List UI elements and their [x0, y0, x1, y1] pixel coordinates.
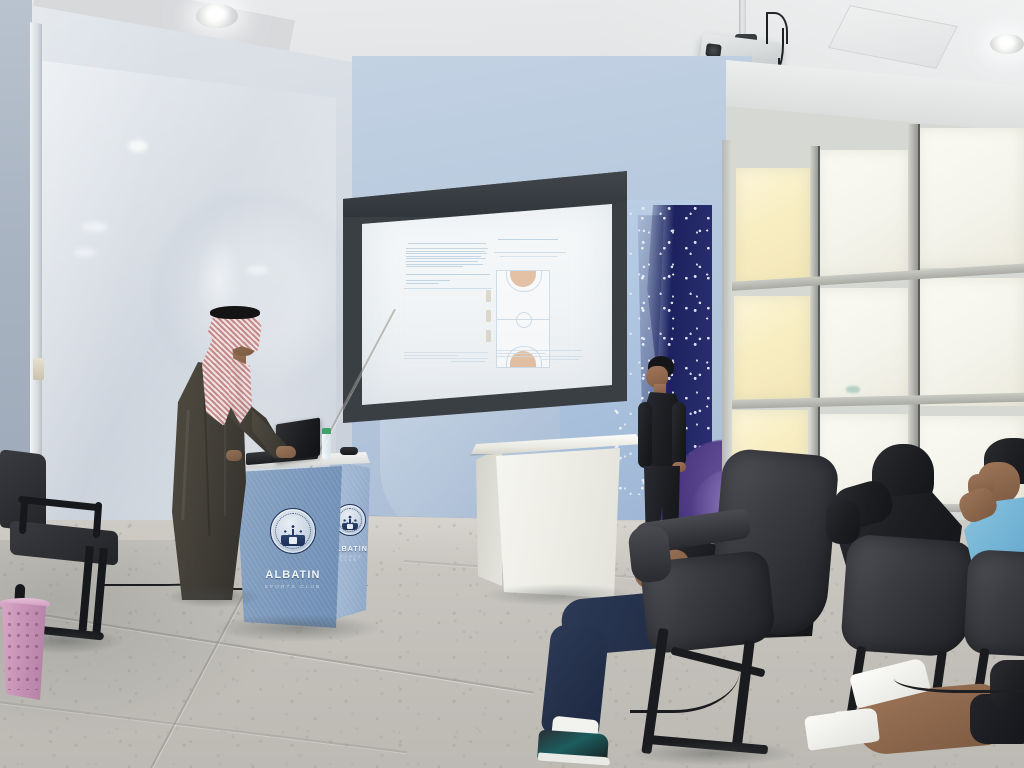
chair-backrest [840, 534, 976, 659]
window-pane [918, 128, 1024, 268]
projected-slide [400, 228, 592, 386]
waste-bin [0, 602, 46, 700]
presenter-hand [276, 446, 296, 458]
waste-bin-perforations [5, 608, 42, 690]
robe-fold [224, 420, 226, 516]
chair-shadow [628, 740, 798, 766]
floor-cable [894, 664, 1024, 693]
court-centre-circle [516, 312, 532, 328]
backdrop-glare [128, 140, 148, 152]
slide-left-rule [408, 243, 486, 244]
presentation-room-photo: ALBATIN SPORTS CLUB ALBATIN SPORTS CLUB [0, 0, 1024, 768]
court-arc-top [506, 271, 542, 292]
backdrop-glare [82, 222, 108, 232]
window-pane [818, 288, 910, 404]
backdrop-glare [246, 266, 268, 274]
slide-left-body [406, 248, 488, 269]
window-pane [918, 278, 1024, 406]
slide-right-subheading [500, 256, 558, 257]
slide-left-rule-2 [406, 274, 490, 275]
wall-panel-clip [33, 358, 44, 380]
wireless-mouse[interactable] [340, 447, 358, 455]
slide-right-rule [498, 239, 558, 240]
presenter-shadow [166, 586, 262, 608]
chair-backrest [963, 549, 1024, 659]
slide-left-divider [404, 288, 492, 289]
slide-left-note [406, 280, 450, 285]
presenter-hand-left [226, 450, 242, 461]
court-dimension-tag [486, 310, 491, 322]
presenter-igal [210, 306, 260, 319]
downlight-icon [196, 4, 238, 28]
court-dimension-tag [486, 330, 491, 342]
backdrop-glare [74, 248, 96, 257]
window-pane-smudge [846, 386, 860, 393]
presenter-at-podium [168, 300, 298, 600]
left-wall-edge-dark [0, 0, 32, 470]
window-pane [734, 296, 810, 400]
window-pane [736, 168, 810, 286]
downlight-icon [990, 34, 1024, 54]
slide-left-titleblock [404, 352, 488, 364]
window-pane [818, 150, 910, 278]
slide-right-titleblock [496, 350, 582, 362]
podium-shadow [212, 614, 382, 642]
water-bottle [322, 431, 331, 459]
court-dimension-tag [486, 290, 491, 302]
bottle-cap [322, 428, 331, 434]
crest-base [342, 523, 359, 530]
slide-right-subheading [494, 252, 566, 253]
chair-armrest-front [627, 524, 673, 584]
